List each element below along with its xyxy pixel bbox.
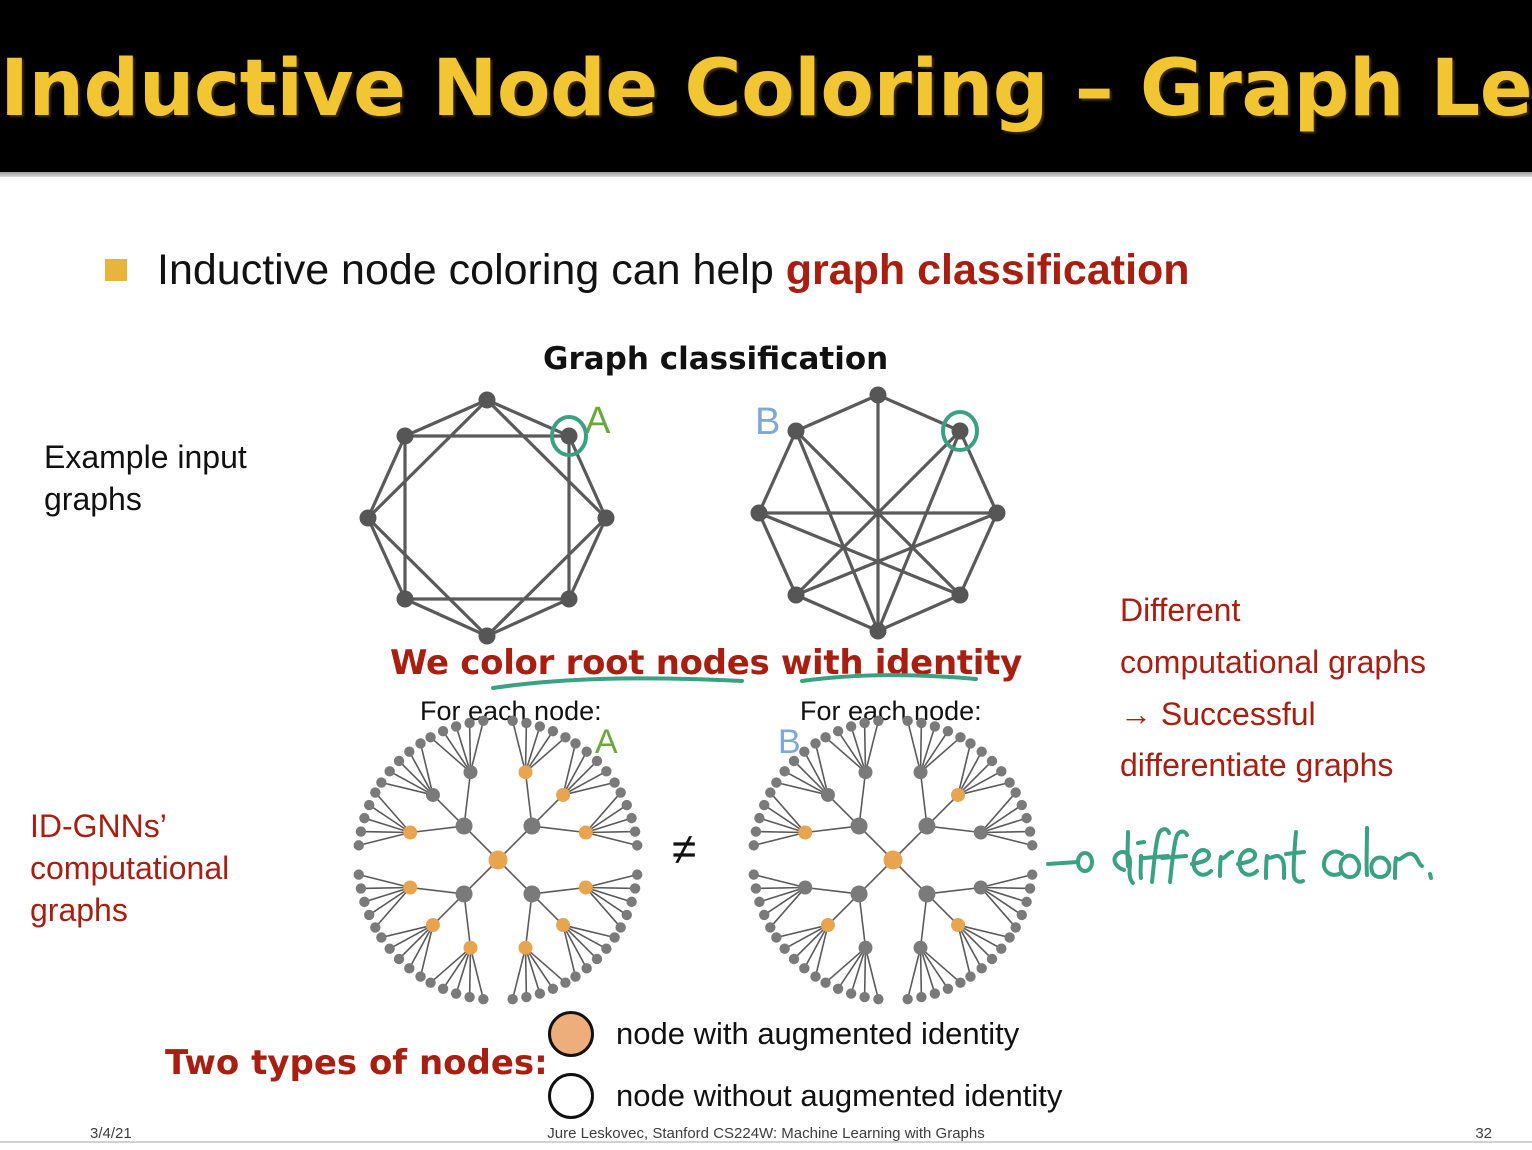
- tree-leaf-node: [987, 756, 997, 766]
- for-each-node-label-right: For each node:: [800, 696, 982, 727]
- tree-leaf-node: [592, 954, 602, 964]
- tree-level1-node: [851, 885, 868, 902]
- tree-leaf-node: [464, 992, 474, 1002]
- tree-leaf-node: [394, 756, 404, 766]
- legend-swatch-empty-circle-icon: [548, 1073, 594, 1119]
- legend-label: node with augmented identity: [616, 1016, 1019, 1052]
- tree-leaf-node: [1021, 897, 1031, 907]
- tree-leaf-node: [632, 840, 642, 850]
- tree-root-node: [489, 851, 508, 870]
- graph-node: [598, 510, 615, 527]
- tree-mid-node: [798, 825, 812, 839]
- tree-mid-node: [463, 941, 477, 955]
- tree-leaf-node: [1027, 840, 1037, 850]
- tree-leaf-node: [1017, 910, 1027, 920]
- tree-leaf-node: [754, 813, 764, 823]
- tree-leaf-node: [521, 992, 531, 1002]
- tree-leaf-node: [356, 883, 366, 893]
- tree-leaf-node: [754, 897, 764, 907]
- tree-leaf-node: [609, 932, 619, 942]
- tree-mid-node: [579, 825, 593, 839]
- tree-mid-node: [914, 765, 928, 779]
- tree-mid-node: [974, 881, 988, 895]
- graph-node: [751, 505, 768, 522]
- tree-leaf-node: [955, 977, 965, 987]
- two-types-of-nodes-label: Two types of nodes:: [165, 1043, 548, 1083]
- not-equal-symbol: ≠: [672, 828, 696, 872]
- tree-leaf-node: [996, 766, 1006, 776]
- tree-leaf-node: [404, 963, 414, 973]
- tree-leaf-node: [560, 977, 570, 987]
- graph-node-root-b: [952, 423, 969, 440]
- tree-mid-node: [951, 918, 965, 932]
- tree-leaf-node: [404, 746, 414, 756]
- graph-a-label: A: [585, 400, 610, 443]
- tree-level1-node: [523, 885, 540, 902]
- legend-item-with-identity: node with augmented identity: [548, 1008, 1062, 1060]
- tree-mid-node: [403, 825, 417, 839]
- tree-mid-node: [798, 881, 812, 895]
- tree-leaf-node: [394, 954, 404, 964]
- tree-leaf-node: [916, 992, 926, 1002]
- tree-leaf-node: [759, 910, 769, 920]
- tree-mid-node: [858, 941, 872, 955]
- tree-leaf-node: [478, 994, 488, 1004]
- tree-leaf-node: [370, 787, 380, 797]
- tree-leaf-node: [622, 910, 632, 920]
- tree-mid-node: [426, 918, 440, 932]
- tree-mid-node: [556, 788, 570, 802]
- page-title: Inductive Node Coloring – Graph Level: [0, 44, 1532, 134]
- graph-node: [952, 587, 969, 604]
- tree-level1-node: [918, 818, 935, 835]
- tree-leaf-node: [601, 943, 611, 953]
- root-highlight-circle-a: [552, 417, 586, 455]
- tree-leaf-node: [370, 922, 380, 932]
- bullet-text-plain: Inductive node coloring can help: [157, 246, 786, 294]
- tree-leaf-node: [846, 988, 856, 998]
- tree-leaf-node: [356, 826, 366, 836]
- tree-leaf-node: [626, 897, 636, 907]
- tree-leaf-node: [1025, 826, 1035, 836]
- tree-leaf-node: [943, 726, 953, 736]
- tree-mid-node: [974, 825, 988, 839]
- tree-leaf-node: [615, 787, 625, 797]
- tree-leaf-node: [581, 963, 591, 973]
- tree-mid-node: [858, 765, 872, 779]
- tree-leaf-node: [779, 766, 789, 776]
- tree-leaf-node: [833, 726, 843, 736]
- graph-node: [479, 628, 496, 645]
- tree-mid-node: [951, 788, 965, 802]
- tree-leaf-node: [581, 746, 591, 756]
- tree-level1-node: [456, 885, 473, 902]
- tree-leaf-node: [965, 971, 975, 981]
- tree-leaf-node: [779, 943, 789, 953]
- legend-item-without-identity: node without augmented identity: [548, 1070, 1062, 1122]
- tree-leaf-node: [548, 984, 558, 994]
- tree-leaf-node: [535, 988, 545, 998]
- tree-leaf-node: [1017, 800, 1027, 810]
- tree-leaf-node: [751, 826, 761, 836]
- tree-leaf-node: [359, 813, 369, 823]
- idgnn-computational-graphs-label: ID-GNNs’ computational graphs: [30, 805, 300, 932]
- tree-leaf-node: [384, 943, 394, 953]
- tree-leaf-node: [820, 732, 830, 742]
- tree-leaf-node: [548, 726, 558, 736]
- different-computational-graphs-note: Different computational graphs → Success…: [1120, 585, 1520, 792]
- tree-leaf-node: [810, 738, 820, 748]
- tree-leaf-node: [976, 963, 986, 973]
- tree-leaf-node: [1025, 883, 1035, 893]
- input-graph-b: [759, 395, 997, 631]
- tree-leaf-node: [601, 766, 611, 776]
- tree-leaf-node: [810, 971, 820, 981]
- tree-leaf-node: [615, 922, 625, 932]
- tree-leaf-node: [425, 977, 435, 987]
- tree-leaf-node: [570, 738, 580, 748]
- tree-leaf-node: [626, 813, 636, 823]
- tree-leaf-node: [930, 988, 940, 998]
- tree-leaf-node: [384, 766, 394, 776]
- handwritten-note: [1048, 828, 1431, 883]
- tree-leaf-node: [1027, 869, 1037, 879]
- tree-leaf-node: [859, 992, 869, 1002]
- graph-node: [870, 623, 887, 640]
- tree-leaf-node: [771, 777, 781, 787]
- graph-b-label: B: [755, 401, 780, 444]
- bullet-row: Inductive node coloring can help graph c…: [105, 240, 1485, 300]
- tree-leaf-node: [570, 971, 580, 981]
- input-graph-a-nodes: [360, 392, 615, 645]
- tree-leaf-node: [749, 840, 759, 850]
- tree-leaf-node: [751, 883, 761, 893]
- tree-leaf-node: [1010, 787, 1020, 797]
- tree-leaf-node: [376, 932, 386, 942]
- tree-leaf-node: [415, 971, 425, 981]
- tree-leaf-node: [759, 800, 769, 810]
- tree-leaf-node: [359, 897, 369, 907]
- tree-leaf-node: [1021, 813, 1031, 823]
- graph-node: [788, 587, 805, 604]
- graph-node: [561, 591, 578, 608]
- tree-leaf-node: [873, 994, 883, 1004]
- tree-level1-node: [918, 885, 935, 902]
- graph-node: [788, 423, 805, 440]
- tree-leaf-node: [789, 954, 799, 964]
- tree-leaf-node: [609, 777, 619, 787]
- tree-leaf-node: [364, 800, 374, 810]
- tree-level1-node: [851, 818, 868, 835]
- tree-leaf-node: [799, 963, 809, 973]
- example-input-graphs-label: Example input graphs: [44, 436, 324, 520]
- tree-leaf-node: [1004, 932, 1014, 942]
- tree-leaf-node: [943, 984, 953, 994]
- footer-page-number: 32: [0, 1125, 1492, 1142]
- input-graph-b-nodes: [751, 387, 1006, 640]
- root-highlight-circle-b: [943, 412, 977, 450]
- tree-leaf-node: [996, 943, 1006, 953]
- tree-leaf-node: [749, 869, 759, 879]
- tree-leaf-node: [955, 732, 965, 742]
- tree-leaf-node: [630, 883, 640, 893]
- input-graph-a: [368, 400, 606, 636]
- tree-leaf-node: [438, 984, 448, 994]
- tree-leaf-node: [820, 977, 830, 987]
- tree-b-label: B: [778, 723, 801, 762]
- tree-mid-node: [914, 941, 928, 955]
- tree-mid-node: [579, 881, 593, 895]
- tree-a-label: A: [595, 723, 618, 762]
- tree-leaf-node: [771, 932, 781, 942]
- tree-leaf-node: [425, 732, 435, 742]
- graph-node: [989, 505, 1006, 522]
- tree-leaf-node: [630, 826, 640, 836]
- graph-node: [397, 591, 414, 608]
- bullet-text: Inductive node coloring can help graph c…: [157, 249, 1190, 292]
- tree-leaf-node: [364, 910, 374, 920]
- tree-mid-node: [556, 918, 570, 932]
- tree-leaf-node: [354, 869, 364, 879]
- tree-leaf-node: [632, 869, 642, 879]
- legend-label: node without augmented identity: [616, 1078, 1062, 1114]
- tree-mid-node: [519, 941, 533, 955]
- tree-leaf-node: [976, 746, 986, 756]
- tree-leaf-node: [560, 732, 570, 742]
- graph-node: [479, 392, 496, 409]
- tree-level1-node: [456, 818, 473, 835]
- tree-leaf-node: [965, 738, 975, 748]
- for-each-node-label-left: For each node:: [420, 696, 602, 727]
- we-color-root-nodes-text: We color root nodes with identity: [390, 643, 1022, 683]
- tree-root-node: [884, 851, 903, 870]
- section-heading: Graph classification: [543, 341, 888, 377]
- bullet-square-icon: [105, 259, 127, 281]
- tree-mid-node: [463, 765, 477, 779]
- tree-mid-node: [821, 918, 835, 932]
- graph-node: [360, 510, 377, 527]
- tree-leaf-node: [376, 777, 386, 787]
- tree-mid-node: [426, 788, 440, 802]
- tree-leaf-node: [987, 954, 997, 964]
- tree-leaf-node: [354, 840, 364, 850]
- title-divider: [0, 172, 1532, 177]
- graph-node: [870, 387, 887, 404]
- tree-leaf-node: [765, 922, 775, 932]
- tree-leaf-node: [765, 787, 775, 797]
- tree-leaf-node: [438, 726, 448, 736]
- tree-leaf-node: [833, 984, 843, 994]
- legend-swatch-filled-circle-icon: [548, 1011, 594, 1057]
- tree-leaf-node: [415, 738, 425, 748]
- tree-leaf-node: [902, 994, 912, 1004]
- legend: node with augmented identity node withou…: [548, 1008, 1062, 1132]
- tree-leaf-node: [507, 994, 517, 1004]
- tree-mid-node: [821, 788, 835, 802]
- tree-leaf-node: [1010, 922, 1020, 932]
- tree-level1-node: [523, 818, 540, 835]
- tree-leaf-node: [622, 800, 632, 810]
- tree-leaf-node: [1004, 777, 1014, 787]
- tree-mid-node: [519, 765, 533, 779]
- tree-mid-node: [403, 881, 417, 895]
- slide: Inductive Node Coloring – Graph Level In…: [0, 0, 1532, 1150]
- bullet-text-highlight: graph classification: [786, 246, 1190, 294]
- tree-leaf-node: [451, 988, 461, 998]
- graph-node-root-a: [561, 428, 578, 445]
- graph-node: [397, 428, 414, 445]
